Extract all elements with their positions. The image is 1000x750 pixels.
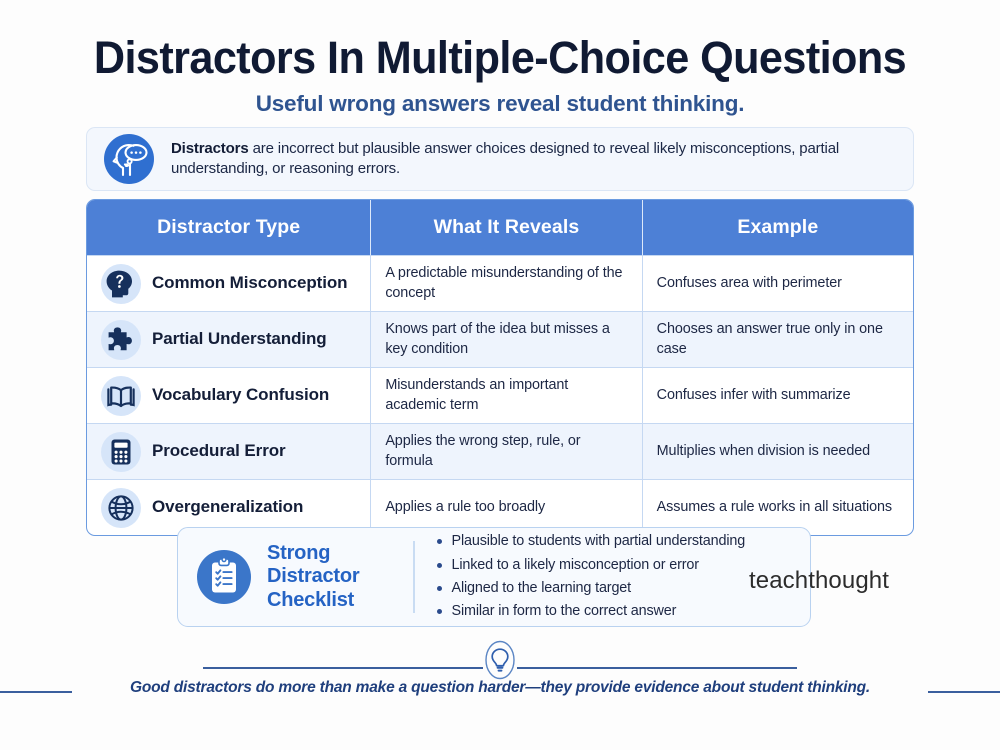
head-thought-bubble-icon (103, 133, 155, 185)
table-header-row: Distractor Type What It Reveals Example (87, 200, 913, 255)
distractor-table: Distractor Type What It Reveals Example … (86, 199, 914, 536)
intro-text: Distractors are incorrect but plausible … (171, 139, 895, 180)
title-block: Distractors In Multiple-Choice Questions… (0, 0, 1000, 117)
cell-distractor-type: Common Misconception (87, 256, 370, 311)
list-item: Linked to a likely misconception or erro… (435, 554, 746, 577)
open-book-icon (101, 376, 141, 416)
puzzle-piece-icon (101, 320, 141, 360)
cell-example: Confuses infer with summarize (642, 368, 913, 423)
reveals-text: Applies a rule too broadly (385, 498, 545, 517)
checklist-items: Plausible to students with partial under… (435, 530, 746, 623)
cell-example: Confuses area with perimeter (642, 256, 913, 311)
intro-lead: Distractors (171, 140, 249, 157)
footer: Good distractors do more than make a que… (0, 640, 1000, 710)
cell-what-it-reveals: Knows part of the idea but misses a key … (370, 312, 641, 367)
column-header-distractor-type: Distractor Type (87, 200, 370, 255)
cell-what-it-reveals: A predictable misunderstanding of the co… (370, 256, 641, 311)
table-row: Procedural Error Applies the wrong step,… (87, 423, 913, 479)
example-text: Chooses an answer true only in one case (657, 320, 899, 359)
reveals-text: Misunderstands an important academic ter… (385, 376, 627, 415)
table-row: Common Misconception A predictable misun… (87, 255, 913, 311)
table-row: Partial Understanding Knows part of the … (87, 311, 913, 367)
clipboard-check-icon (194, 547, 254, 607)
page-title: Distractors In Multiple-Choice Questions (20, 34, 980, 82)
footer-rule-right (517, 667, 797, 669)
cell-distractor-type: Procedural Error (87, 424, 370, 479)
cell-distractor-type: Partial Understanding (87, 312, 370, 367)
row-type-label: Vocabulary Confusion (152, 386, 329, 405)
infographic-page: Distractors In Multiple-Choice Questions… (0, 0, 1000, 750)
list-item: Similar in form to the correct answer (435, 600, 746, 623)
cell-what-it-reveals: Applies the wrong step, rule, or formula (370, 424, 641, 479)
calculator-icon (101, 432, 141, 472)
reveals-text: Applies the wrong step, rule, or formula (385, 432, 627, 471)
cell-distractor-type: Vocabulary Confusion (87, 368, 370, 423)
intro-banner: Distractors are incorrect but plausible … (86, 127, 914, 191)
checklist-divider (413, 541, 415, 613)
row-type-label: Overgeneralization (152, 498, 303, 517)
teachthought-logo: teachthought (749, 567, 889, 595)
intro-body: are incorrect but plausible answer choic… (171, 140, 839, 177)
list-item: Plausible to students with partial under… (435, 530, 746, 553)
footer-rule-left (203, 667, 483, 669)
row-type-label: Partial Understanding (152, 330, 327, 349)
globe-icon (101, 488, 141, 528)
example-text: Multiplies when division is needed (657, 442, 870, 461)
row-type-label: Common Misconception (152, 274, 347, 293)
column-header-example: Example (642, 200, 913, 255)
page-subtitle: Useful wrong answers reveal student thin… (0, 91, 1000, 117)
table-row: Vocabulary Confusion Misunderstands an i… (87, 367, 913, 423)
cell-what-it-reveals: Misunderstands an important academic ter… (370, 368, 641, 423)
list-item: Aligned to the learning target (435, 577, 746, 600)
checklist-title: Strong Distractor Checklist (267, 542, 407, 613)
example-text: Confuses area with perimeter (657, 274, 842, 293)
cell-example: Chooses an answer true only in one case (642, 312, 913, 367)
row-type-label: Procedural Error (152, 442, 286, 461)
strong-distractor-checklist-panel: Strong Distractor Checklist Plausible to… (177, 527, 811, 627)
footer-quote: Good distractors do more than make a que… (0, 679, 1000, 697)
reveals-text: A predictable misunderstanding of the co… (385, 264, 627, 303)
lightbulb-icon (483, 640, 517, 680)
cell-example: Multiplies when division is needed (642, 424, 913, 479)
reveals-text: Knows part of the idea but misses a key … (385, 320, 627, 359)
question-head-icon (101, 264, 141, 304)
example-text: Confuses infer with summarize (657, 386, 851, 405)
column-header-what-it-reveals: What It Reveals (370, 200, 641, 255)
example-text: Assumes a rule works in all situations (657, 498, 892, 517)
